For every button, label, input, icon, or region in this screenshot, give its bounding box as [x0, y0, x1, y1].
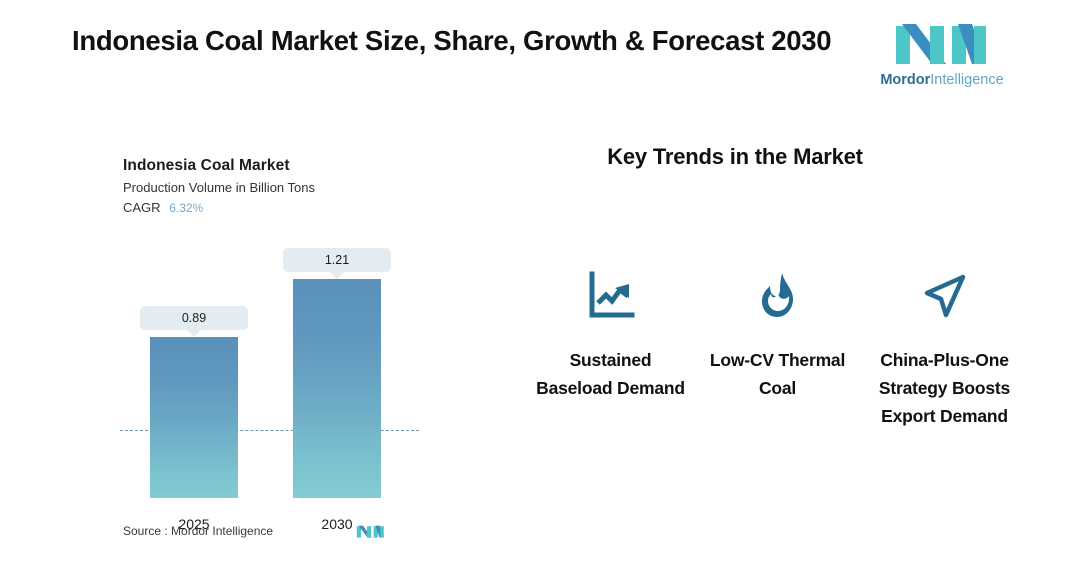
- trends-panel: Key Trends in the Market Sustained Basel…: [470, 118, 1081, 582]
- trends-row: Sustained Baseload Demand Low-CV Thermal…: [470, 268, 1081, 430]
- trend-item: Low-CV Thermal Coal: [694, 268, 861, 430]
- bar-value-badge: 0.89: [140, 306, 248, 330]
- trend-label: Sustained Baseload Demand: [536, 346, 686, 402]
- brand-wordmark-bold: Mordor: [880, 72, 930, 88]
- trend-item: China-Plus-One Strategy Boosts Export De…: [861, 268, 1028, 430]
- chart-subtitle: Production Volume in Billion Tons: [123, 180, 315, 195]
- trend-item: Sustained Baseload Demand: [527, 268, 694, 430]
- plot-area: 0.89 1.21 2025 2030: [0, 228, 470, 498]
- mordor-intelligence-mark-icon: [890, 14, 990, 70]
- bar-value-badge: 1.21: [283, 248, 391, 272]
- flame-icon: [750, 268, 806, 324]
- chart-cagr-row: CAGR 6.32%: [123, 200, 203, 215]
- chart-panel: Indonesia Coal Market Production Volume …: [0, 118, 470, 582]
- brand-logo: MordorIntelligence: [878, 14, 1006, 92]
- infographic-page: Indonesia Coal Market Size, Share, Growt…: [0, 0, 1081, 582]
- source-row: Source : Mordor Intelligence: [123, 522, 453, 544]
- chart-cagr-value: 6.32%: [169, 201, 203, 215]
- trend-label: Low-CV Thermal Coal: [703, 346, 853, 402]
- bar: [150, 337, 238, 498]
- line-chart-growth-icon: [583, 268, 639, 324]
- header: Indonesia Coal Market Size, Share, Growt…: [0, 0, 1081, 112]
- trends-heading: Key Trends in the Market: [470, 144, 1000, 170]
- trend-label: China-Plus-One Strategy Boosts Export De…: [870, 346, 1020, 430]
- navigation-arrow-icon: [917, 268, 973, 324]
- brand-wordmark-light: Intelligence: [930, 72, 1003, 88]
- source-text: Source : Mordor Intelligence: [123, 524, 273, 538]
- mordor-intelligence-mark-icon: [355, 522, 385, 540]
- chart-title: Indonesia Coal Market: [123, 157, 290, 175]
- page-title: Indonesia Coal Market Size, Share, Growt…: [72, 22, 862, 59]
- chart-cagr-label: CAGR: [123, 200, 161, 215]
- brand-wordmark: MordorIntelligence: [878, 72, 1006, 88]
- bar: [293, 279, 381, 498]
